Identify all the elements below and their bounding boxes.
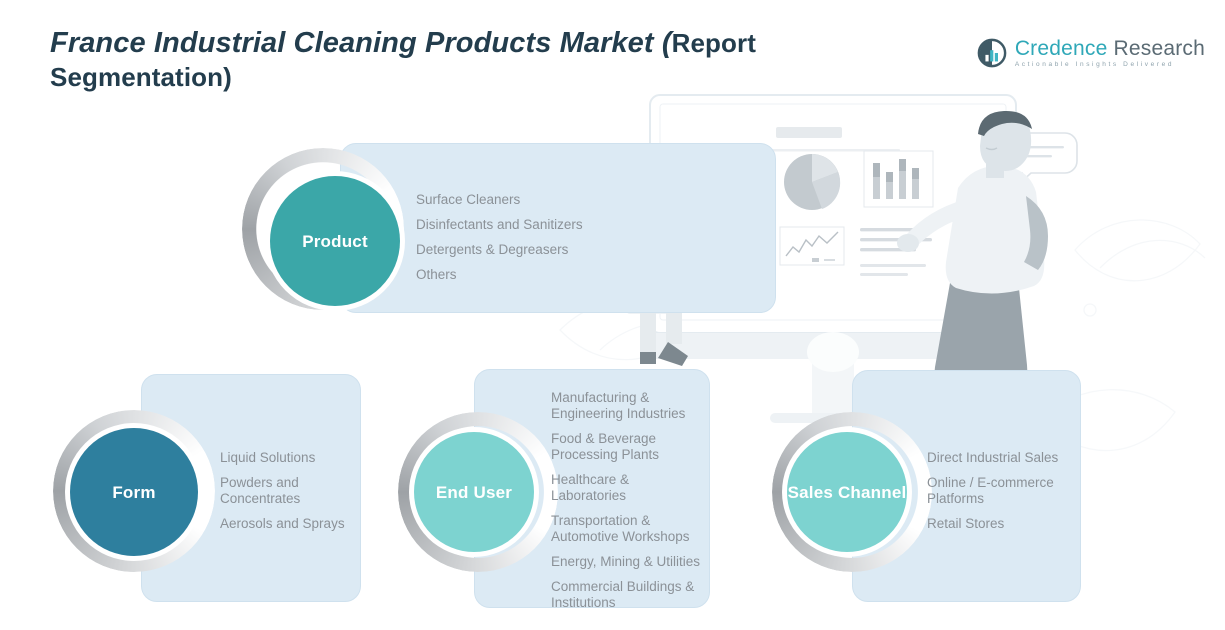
segment-product-items: Surface Cleaners Disinfectants and Sanit… [416,192,746,283]
segment-sales-channel-items: Direct Industrial Sales Online / E-comme… [927,450,1079,532]
list-item: Liquid Solutions [220,450,360,466]
page-title: France Industrial Cleaning Products Mark… [50,26,850,94]
dashboard-text-lines [860,228,932,276]
infographic-canvas: France Industrial Cleaning Products Mark… [0,0,1225,630]
list-item: Food & Beverage Processing Plants [551,431,703,463]
list-item: Energy, Mining & Utilities [551,554,703,570]
segment-end-user-circle[interactable]: End User [414,432,534,552]
dashboard-bar-chart [864,151,933,207]
segment-end-user-items: Manufacturing & Engineering Industries F… [551,390,703,611]
list-item: Others [416,267,746,283]
logo-text-block: Credence Research Actionable Insights De… [1015,38,1205,69]
list-item: Direct Industrial Sales [927,450,1079,466]
list-item: Healthcare & Laboratories [551,472,703,504]
list-item: Retail Stores [927,516,1079,532]
credence-research-logo-icon [977,38,1007,68]
list-item: Detergents & Degreasers [416,242,746,258]
segment-sales-channel-circle[interactable]: Sales Channel [787,432,907,552]
dashboard-title-bar [776,127,842,138]
list-item: Aerosols and Sprays [220,516,360,532]
list-item: Online / E-commerce Platforms [927,475,1079,507]
page-title-italic: France Industrial Cleaning Products Mark… [50,27,672,59]
list-item: Manufacturing & Engineering Industries [551,390,703,422]
list-item: Commercial Buildings & Institutions [551,579,703,611]
logo-tagline: Actionable Insights Delivered [1015,62,1205,69]
brand-logo[interactable]: Credence Research Actionable Insights De… [977,38,1205,69]
segment-form-items: Liquid Solutions Powders and Concentrate… [220,450,360,532]
list-item: Disinfectants and Sanitizers [416,217,746,233]
segment-product-circle[interactable]: Product [270,176,400,306]
logo-word-credence: Credence [1015,37,1108,60]
segment-form-circle[interactable]: Form [70,428,198,556]
speech-bubble-icon [1003,133,1077,184]
logo-wordmark: Credence Research [1015,38,1205,59]
list-item: Transportation & Automotive Workshops [551,513,703,545]
list-item: Surface Cleaners [416,192,746,208]
logo-word-research: Research [1114,37,1205,60]
dashboard-line-chart [780,227,844,265]
segment-form-label: Form [112,482,155,503]
segment-product-label: Product [302,231,368,252]
list-item: Powders and Concentrates [220,475,360,507]
dashboard-pie-chart [784,154,840,210]
segment-sales-channel-label: Sales Channel [788,482,907,503]
segment-end-user-label: End User [436,482,512,503]
